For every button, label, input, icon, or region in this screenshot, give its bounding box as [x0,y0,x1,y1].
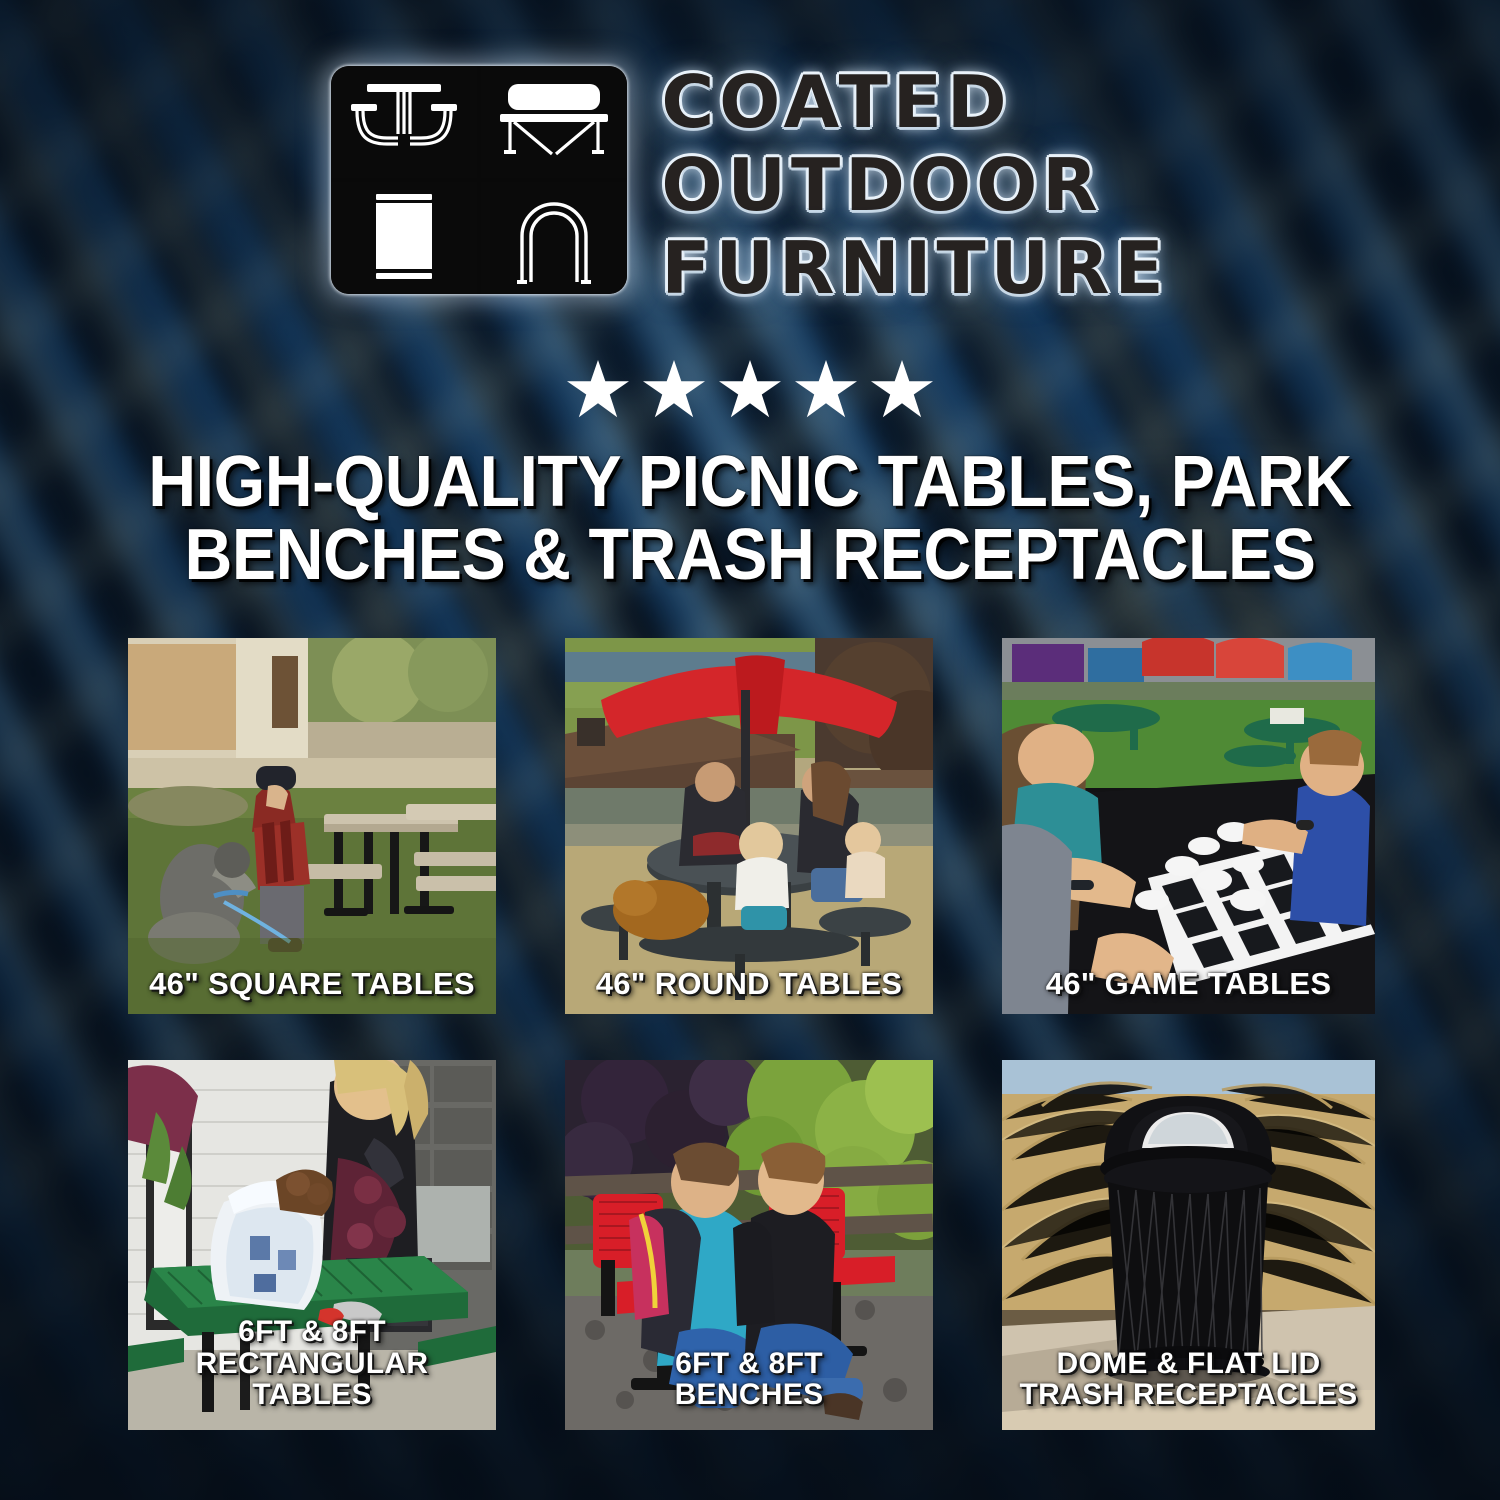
product-tile-benches[interactable]: 6FT & 8FT BENCHES [565,1060,933,1430]
star-icon [795,360,857,420]
product-category-grid: 46" SQUARE TABLES [128,638,1373,1430]
product-caption: 46" ROUND TABLES [565,968,933,1014]
photo-game-tables [1002,638,1375,1014]
brand-wordmark: COATED OUTDOOR FURNITURE [661,66,1168,303]
logo-icon-grid [331,66,627,294]
brand-word-furniture: FURNITURE [661,234,1168,303]
bike-rack-arch-icon [481,182,627,294]
product-tile-square-tables[interactable]: 46" SQUARE TABLES [128,638,496,1014]
star-rating [0,352,1500,428]
star-icon [719,360,781,420]
product-tile-game-tables[interactable]: 46" GAME TABLES [1002,638,1375,1014]
trash-receptacle-icon [331,182,477,294]
product-caption: 6FT & 8FT BENCHES [565,1348,933,1424]
product-tile-round-tables[interactable]: 46" ROUND TABLES [565,638,933,1014]
headline-line-2: BENCHES & TRASH RECEPTACLES [115,519,1385,592]
page-title: HIGH-QUALITY PICNIC TABLES, PARK BENCHES… [60,446,1440,593]
brand-logo: COATED OUTDOOR FURNITURE [0,66,1500,316]
photo-round-tables [565,638,933,1014]
product-caption: DOME & FLAT LID TRASH RECEPTACLES [1002,1348,1375,1424]
star-icon [643,360,705,420]
photo-square-tables [128,638,496,1014]
product-caption: 6FT & 8FT RECTANGULAR TABLES [128,1316,496,1424]
product-tile-rectangular-tables[interactable]: 6FT & 8FT RECTANGULAR TABLES [128,1060,496,1430]
star-icon [567,360,629,420]
brand-word-coated: COATED [661,68,1011,137]
bench-table-side-icon [481,66,627,178]
brand-word-outdoor: OUTDOOR [661,151,1102,220]
picnic-table-front-icon [331,66,477,178]
headline-line-1: HIGH-QUALITY PICNIC TABLES, PARK [115,446,1385,519]
product-caption: 46" GAME TABLES [1002,968,1375,1014]
product-tile-trash-receptacles[interactable]: DOME & FLAT LID TRASH RECEPTACLES [1002,1060,1375,1430]
star-icon [871,360,933,420]
product-caption: 46" SQUARE TABLES [128,968,496,1014]
